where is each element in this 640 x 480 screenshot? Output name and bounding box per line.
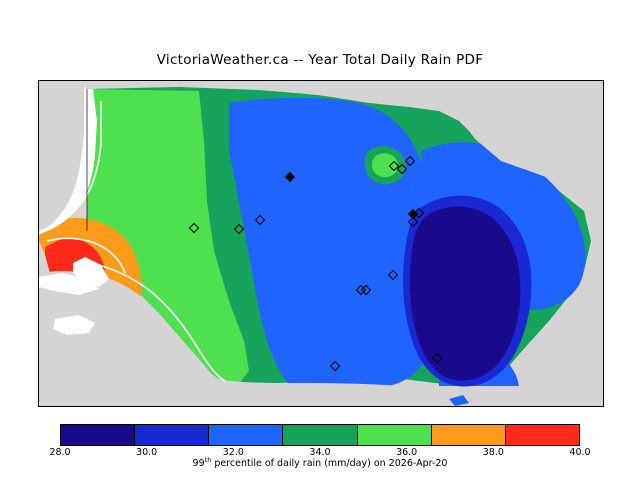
colorbar-segment-0 bbox=[61, 425, 135, 445]
colorbar-segment-3 bbox=[283, 425, 357, 445]
screenshot-root: VictoriaWeather.ca -- Year Total Daily R… bbox=[0, 0, 640, 480]
colorbar-segment-2 bbox=[209, 425, 283, 445]
colorbar bbox=[60, 424, 580, 446]
colorbar-segment-6 bbox=[506, 425, 579, 445]
colorbar-label-suffix: percentile of daily rain (mm/day) on 202… bbox=[211, 458, 447, 469]
colorbar-label: 99th percentile of daily rain (mm/day) o… bbox=[0, 456, 640, 469]
colorbar-segment-4 bbox=[358, 425, 432, 445]
colorbar-segment-5 bbox=[432, 425, 506, 445]
colorbar-label-prefix: 99 bbox=[193, 458, 205, 469]
contour-map bbox=[39, 81, 603, 406]
map-plot-area bbox=[38, 80, 604, 407]
page-title: VictoriaWeather.ca -- Year Total Daily R… bbox=[0, 52, 640, 68]
colorbar-segment-1 bbox=[135, 425, 209, 445]
